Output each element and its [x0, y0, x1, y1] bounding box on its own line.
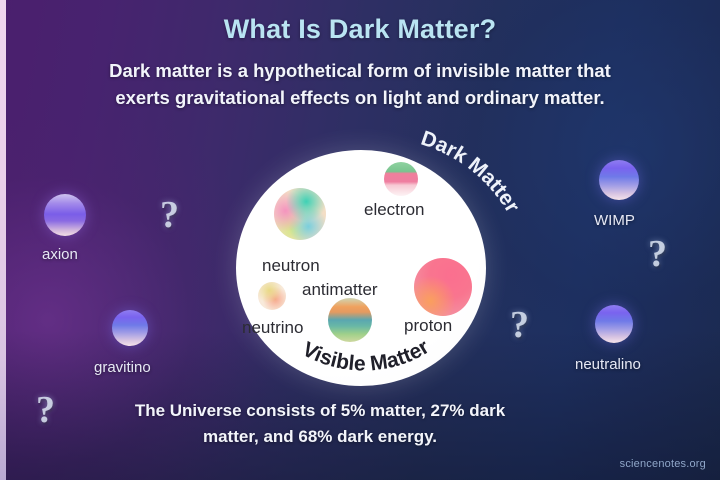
particle-proton-sphere	[414, 258, 472, 316]
question-mark-upper-left-icon: ?	[160, 193, 179, 237]
dark-matter-infographic: What Is Dark Matter? Dark matter is a hy…	[0, 0, 720, 480]
particle-neutron-sphere	[274, 188, 326, 240]
particle-neutralino-sphere	[595, 305, 633, 343]
footer-line-2: matter, and 68% dark energy.	[90, 424, 550, 450]
attribution-label: sciencenotes.org	[620, 458, 706, 470]
particle-axion-sphere	[44, 194, 86, 236]
particle-antimatter-sphere	[328, 298, 372, 342]
particle-wimp-sphere	[599, 160, 639, 200]
particle-electron-sphere	[384, 162, 418, 196]
particle-label-proton: proton	[404, 316, 452, 336]
question-mark-upper-right-icon: ?	[648, 232, 667, 276]
question-mark-lower-left-icon: ?	[36, 388, 55, 432]
visible-matter-circle: neutron electron proton antimatter neutr…	[236, 150, 486, 386]
particle-gravitino-sphere	[112, 310, 148, 346]
particle-label-axion: axion	[42, 246, 78, 263]
particle-label-wimp: WIMP	[594, 212, 635, 229]
particle-label-antimatter: antimatter	[302, 280, 378, 300]
subtitle: Dark matter is a hypothetical form of in…	[0, 58, 720, 112]
particle-label-electron: electron	[364, 200, 424, 220]
subtitle-line-1: Dark matter is a hypothetical form of in…	[0, 58, 720, 85]
particle-label-neutralino: neutralino	[575, 356, 641, 373]
particle-label-neutron: neutron	[262, 256, 320, 276]
subtitle-line-2: exerts gravitational effects on light an…	[0, 85, 720, 112]
particle-label-gravitino: gravitino	[94, 359, 151, 376]
footer-statistic-text: The Universe consists of 5% matter, 27% …	[90, 398, 550, 449]
particle-label-neutrino: neutrino	[242, 318, 303, 338]
question-mark-center-right-icon: ?	[510, 303, 529, 347]
page-title: What Is Dark Matter?	[0, 14, 720, 45]
footer-line-1: The Universe consists of 5% matter, 27% …	[90, 398, 550, 424]
particle-neutrino-sphere	[258, 282, 286, 310]
